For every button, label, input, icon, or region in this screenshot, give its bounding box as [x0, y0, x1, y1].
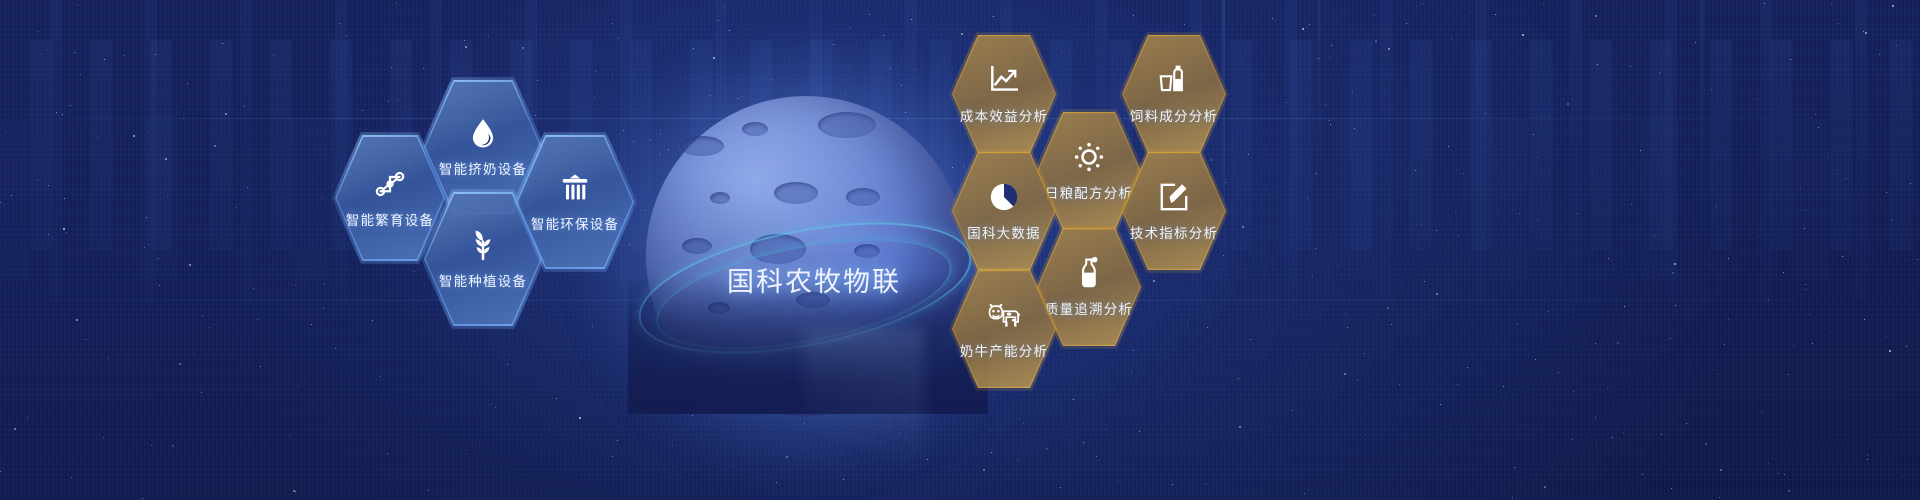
hex-label: 智能环保设备	[531, 213, 619, 233]
hex-label: 智能挤奶设备	[439, 158, 527, 178]
center-planet-group: 国科农牧物联	[628, 78, 988, 378]
line-chart-icon	[987, 63, 1021, 97]
hex-label: 成本效益分析	[960, 105, 1048, 125]
hex-smart-environmental-equipment[interactable]: 智能环保设备	[516, 135, 634, 269]
hex-cow-capacity-analysis[interactable]: 奶牛产能分析	[952, 270, 1056, 388]
milk-drop-icon	[466, 116, 500, 150]
breeding-node-icon	[373, 167, 407, 201]
hex-label: 智能繁育设备	[346, 209, 434, 229]
hex-label: 国科大数据	[967, 222, 1041, 242]
pie-chart-icon	[987, 180, 1021, 214]
hex-label: 饲料成分分析	[1130, 105, 1218, 125]
comet-trail	[804, 328, 924, 498]
page-title: 国科农牧物联	[714, 260, 914, 299]
hex-label: 技术指标分析	[1130, 222, 1218, 242]
pencil-edit-icon	[1157, 180, 1191, 214]
dairy-cow-icon	[987, 298, 1021, 332]
hex-label: 奶牛产能分析	[960, 340, 1048, 360]
plant-sprout-icon	[466, 228, 500, 262]
hex-label: 日粮配方分析	[1045, 182, 1133, 202]
cup-bottle-icon	[1157, 63, 1191, 97]
milk-bottle-icon	[1072, 256, 1106, 290]
sun-formula-icon	[1072, 140, 1106, 174]
hex-label: 智能种植设备	[439, 270, 527, 290]
hero-banner: 国科农牧物联 智能繁育设备	[0, 0, 1920, 500]
hex-label: 质量追溯分析	[1045, 298, 1133, 318]
waste-bin-icon	[558, 171, 592, 205]
